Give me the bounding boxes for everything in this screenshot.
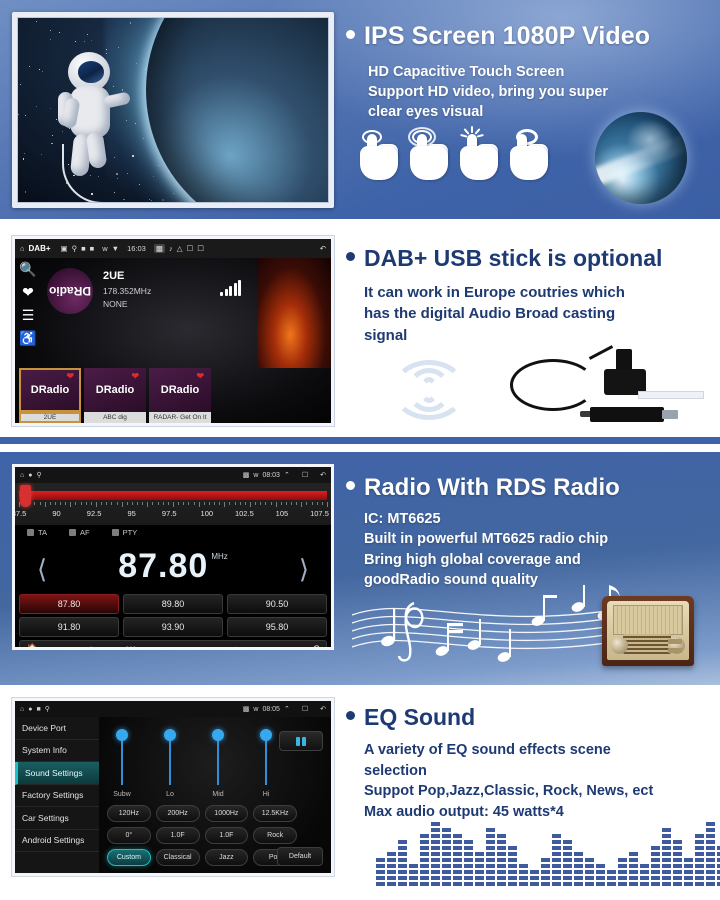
eq-cell (453, 858, 462, 862)
eq-cell (563, 840, 572, 844)
back-icon[interactable]: ↶ (312, 644, 320, 650)
eq-cell (563, 876, 572, 880)
sidebar-item-factory-settings[interactable]: Factory Settings (15, 785, 99, 808)
eq-cell (640, 882, 649, 886)
eq-cell (442, 846, 451, 850)
station-artwork: ❤DRadio (84, 368, 146, 412)
default-button[interactable]: Default (277, 847, 323, 866)
eq-cell (409, 870, 418, 874)
eq-cell (684, 882, 693, 886)
list-icon[interactable]: ☰ (22, 308, 35, 322)
chevron-up-icon[interactable]: ⌃ (284, 471, 290, 479)
rds-flag-ta[interactable]: TA (27, 528, 47, 537)
wifi-icon: ▼ (112, 244, 119, 253)
list-item[interactable]: ❤DRadioRADAR- Get On It (149, 368, 211, 423)
eq-cell (508, 870, 517, 874)
antenna-cable (510, 359, 596, 411)
radio-clock: 08:03 (262, 472, 280, 479)
section-title-ips: IPS Screen 1080P Video (346, 22, 650, 51)
preset-button[interactable]: 91.80 (19, 617, 119, 637)
eq-cell (420, 840, 429, 844)
radio-frequency-display: ⟨ 87.80 MHz ⟩ (15, 540, 331, 592)
eq-column (376, 858, 385, 886)
eq-column (651, 846, 660, 886)
eq-status-bar: ⌂ ● ■ ⚲ ▩ w 08:05 ⌃ ☐ ↶ (15, 701, 331, 717)
slider-label: Hi (251, 791, 281, 798)
eq-cell (695, 876, 704, 880)
prev-icon[interactable]: ⏮ (126, 644, 135, 650)
dab-album-art (257, 258, 331, 368)
eq-cell (629, 864, 638, 868)
eq-cell (662, 828, 671, 832)
dab-content: 🔍 ❤ ☰ ♿ DRadio 2UE 178.352MHz NONE ❤DRad… (15, 258, 331, 426)
eq-cell (662, 840, 671, 844)
eq-cell (486, 840, 495, 844)
eq-cell (453, 870, 462, 874)
home-icon[interactable]: ⌂ (20, 244, 25, 253)
eq-button[interactable]: Rock (253, 827, 297, 844)
eq-cell (695, 870, 704, 874)
eq-cell (431, 822, 440, 826)
hand-palm (460, 146, 498, 180)
dab-station-tiles: ❤DRadio2UE❤DRadioABC dig❤DRadioRADAR- Ge… (19, 368, 211, 423)
scale-label: 105 (276, 509, 289, 518)
eq-cell (563, 864, 572, 868)
sidebar-item-android-settings[interactable]: Android Settings (15, 830, 99, 853)
eq-column (541, 858, 550, 886)
preset-button[interactable]: 87.80 (19, 594, 119, 614)
preset-button[interactable]: 95.80 (227, 617, 327, 637)
eq-button[interactable]: 12.5KHz (253, 805, 297, 822)
eq-cell (519, 882, 528, 886)
eq-cell (618, 876, 627, 880)
band-button[interactable]: Europe1 (168, 645, 196, 650)
section-body-eq: A variety of EQ sound effects scene sele… (364, 740, 709, 822)
eq-cell (695, 882, 704, 886)
eq-cell (563, 852, 572, 856)
eq-cell (541, 870, 550, 874)
eq-column (585, 858, 594, 886)
scale-label: 107.5 (310, 509, 329, 518)
eq-cell (420, 870, 429, 874)
home-icon[interactable]: 🏠 (26, 644, 38, 650)
eq-column (695, 834, 704, 886)
slider-knob[interactable] (260, 729, 272, 741)
bullet-icon (346, 252, 355, 261)
eq-cell (453, 840, 462, 844)
eq-column (640, 864, 649, 886)
eq-button[interactable]: 1.0F (205, 827, 249, 844)
eq-button[interactable]: Custom (107, 849, 151, 866)
section-body-radio: IC: MT6625 Built in powerful MT6625 radi… (364, 509, 708, 590)
eq-cell (420, 864, 429, 868)
screen-icon[interactable]: ☐ (302, 705, 308, 713)
sidebar-item-device-port[interactable]: Device Port (15, 717, 99, 740)
section-radio-rds: ⌂ ● ⚲ ▩ w 08:03 ⌃ ☐ ↶ 87.59092.59597.510… (0, 452, 720, 685)
eq-cell (453, 882, 462, 886)
card-icon[interactable]: ☐ (197, 244, 204, 253)
eq-cell (442, 840, 451, 844)
eq-column (530, 870, 539, 886)
scale-label: 100 (201, 509, 214, 518)
eq-button[interactable]: 1000Hz (205, 805, 249, 822)
eq-cell (662, 852, 671, 856)
sidebar-item-system-info[interactable]: System Info (15, 740, 99, 763)
dab-status-bar: ⌂ DAB+ ▣ ⚲ ■ ■ w ▼ 16:03 ▩ ♪ △ ☐ ☐ ↶ (15, 239, 331, 258)
mute-icon[interactable]: ♪ (169, 244, 173, 253)
eq-cell (574, 870, 583, 874)
radio-tuning-scale[interactable]: 87.59092.59597.5100102.5105107.5 (15, 483, 331, 525)
camera-icon[interactable]: ▩ (243, 471, 250, 479)
eq-cell (640, 870, 649, 874)
eq-column (486, 828, 495, 886)
eq-cell (464, 858, 473, 862)
eq-cell (629, 852, 638, 856)
eq-cell (706, 864, 715, 868)
radio-bottom-bar: 🏠 Search ⏮ Europe1 ⏭ DX ↶ (19, 640, 327, 650)
eq-cell (574, 864, 583, 868)
eq-cell (376, 876, 385, 880)
tuning-marker[interactable] (20, 485, 31, 507)
gps-icon: ● (28, 706, 32, 713)
sim-icon: ■ (81, 244, 86, 253)
preset-row: 91.8093.9095.80 (19, 617, 327, 637)
back-icon[interactable]: ↶ (320, 471, 326, 479)
radio-button-2[interactable] (668, 648, 682, 653)
search-button[interactable]: Search (71, 645, 95, 650)
rds-flag-pty[interactable]: PTY (112, 528, 138, 537)
eq-cell (585, 876, 594, 880)
eq-cell (574, 858, 583, 862)
eq-cell (508, 846, 517, 850)
eq-cell (497, 858, 506, 862)
dab-radio-screenshot: ⌂ DAB+ ▣ ⚲ ■ ■ w ▼ 16:03 ▩ ♪ △ ☐ ☐ ↶ 🔍 ❤ (12, 236, 334, 426)
eq-cell (497, 864, 506, 868)
slider-label: Lo (155, 791, 185, 798)
eq-button[interactable]: Classical (156, 849, 200, 866)
next-icon[interactable]: ⏭ (228, 644, 237, 650)
eq-cell (464, 840, 473, 844)
eq-cell (706, 840, 715, 844)
eq-cell (651, 858, 660, 862)
eq-column (563, 840, 572, 886)
eq-cell (497, 870, 506, 874)
eq-button[interactable]: 0° (107, 827, 151, 844)
home-icon[interactable]: ⌂ (20, 472, 24, 479)
camera-icon[interactable]: ▩ (154, 244, 165, 253)
eq-cell (541, 876, 550, 880)
eq-cell (431, 834, 440, 838)
radio-screenshot: ⌂ ● ⚲ ▩ w 08:03 ⌃ ☐ ↶ 87.59092.59597.510… (12, 464, 334, 650)
touch-hand-icon (360, 130, 398, 180)
eq-cell (486, 870, 495, 874)
eq-cell (607, 870, 616, 874)
eq-cell (387, 864, 396, 868)
eq-cell (695, 852, 704, 856)
sidebar-item-sound-settings[interactable]: Sound Settings (15, 762, 99, 785)
heart-icon[interactable]: ❤ (22, 285, 34, 299)
eq-preset-buttons: 120Hz200Hz1000Hz12.5KHz0°1.0F1.0FRockCus… (107, 805, 297, 871)
eq-column (464, 840, 473, 886)
eq-cell (387, 858, 396, 862)
eq-cell (618, 864, 627, 868)
hand-palm (510, 146, 548, 180)
eq-cell (596, 870, 605, 874)
eq-cell (651, 864, 660, 868)
eq-cell (453, 864, 462, 868)
dab-app-label: DAB+ (29, 244, 51, 253)
eq-cell (651, 876, 660, 880)
touch-hand-press-icon (510, 130, 548, 180)
eq-cell (585, 858, 594, 862)
eq-column (596, 864, 605, 886)
eq-cell (464, 852, 473, 856)
eq-cell (673, 846, 682, 850)
back-icon[interactable]: ↶ (320, 244, 326, 253)
eq-cell (706, 834, 715, 838)
eq-cell (497, 834, 506, 838)
eq-panel: SubwLoMidHi 120Hz200Hz1000Hz12.5KHz0°1.0… (99, 717, 331, 876)
eq-cell (387, 870, 396, 874)
section-title-eq: EQ Sound (346, 704, 475, 731)
heart-icon[interactable]: ❤ (66, 371, 74, 382)
eq-cell (508, 876, 517, 880)
heart-icon[interactable]: ❤ (196, 371, 204, 382)
eq-cell (651, 870, 660, 874)
next-station-button[interactable]: ⟩ (299, 554, 309, 585)
section-eq-sound: ⌂ ● ■ ⚲ ▩ w 08:05 ⌃ ☐ ↶ Device PortSyste… (0, 692, 720, 900)
slider-label: Mid (203, 791, 233, 798)
eq-cell (376, 870, 385, 874)
dab-usb-antenna-kit (500, 347, 700, 435)
eq-column (706, 822, 715, 886)
radio-button-1[interactable] (668, 639, 682, 644)
eq-button[interactable]: 1.0F (156, 827, 200, 844)
scale-label: 90 (52, 509, 60, 518)
eq-cell (475, 876, 484, 880)
eq-clock: 08:05 (262, 706, 280, 713)
touch-hand-tap-icon (460, 130, 498, 180)
eq-cell (618, 882, 627, 886)
eq-cell (585, 882, 594, 886)
eq-cell (442, 882, 451, 886)
slider-label: Subw (107, 791, 137, 798)
eq-cell (706, 876, 715, 880)
screen-icon[interactable]: ☐ (302, 471, 308, 479)
bullet-icon (346, 481, 355, 490)
scale-label: 87.5 (12, 509, 26, 518)
section-dab-usb: ⌂ DAB+ ▣ ⚲ ■ ■ w ▼ 16:03 ▩ ♪ △ ☐ ☐ ↶ 🔍 ❤ (0, 231, 720, 444)
eq-cell (673, 864, 682, 868)
eq-cell (552, 840, 561, 844)
eq-cell (420, 876, 429, 880)
eq-cell (497, 852, 506, 856)
eq-cell (442, 858, 451, 862)
usb-icon: ⚲ (45, 705, 50, 713)
eq-cell (662, 864, 671, 868)
back-icon[interactable]: ↶ (320, 705, 326, 713)
eq-cell (552, 846, 561, 850)
eq-cell (453, 852, 462, 856)
eq-cell (706, 870, 715, 874)
eq-cell (376, 858, 385, 862)
eq-cell (431, 852, 440, 856)
search-icon[interactable]: 🔍 (19, 262, 36, 276)
eq-cell (442, 834, 451, 838)
station-artwork: ❤DRadio (149, 368, 211, 412)
eq-cell (453, 876, 462, 880)
radio-speaker-grille (623, 634, 671, 654)
rds-flag-af[interactable]: AF (69, 528, 90, 537)
eq-cell (519, 864, 528, 868)
eq-cell (662, 846, 671, 850)
hand-palm (360, 146, 398, 180)
frequency-unit: MHz (211, 552, 227, 561)
eq-cell (376, 882, 385, 886)
eq-cell (651, 882, 660, 886)
eq-cell (420, 834, 429, 838)
eq-cell (431, 846, 440, 850)
eq-cell (409, 864, 418, 868)
radio-status-bar: ⌂ ● ⚲ ▩ w 08:03 ⌃ ☐ ↶ (15, 467, 331, 483)
dab-station-name: 2UE (103, 270, 151, 282)
equalizer-bars-graphic (376, 814, 698, 886)
eq-cell (629, 858, 638, 862)
preset-button[interactable]: 93.90 (123, 617, 223, 637)
eq-cell (486, 852, 495, 856)
scale-label: 95 (128, 509, 136, 518)
eq-cell (431, 882, 440, 886)
tuning-scale-labels: 87.59092.59597.5100102.5105107.5 (19, 509, 327, 521)
section-title-dab: DAB+ USB stick is optional (346, 245, 662, 272)
eq-cell (607, 882, 616, 886)
eq-button[interactable]: 120Hz (107, 805, 151, 822)
eq-cell (464, 864, 473, 868)
bluetooth-icon: w (253, 706, 258, 713)
eq-cell (398, 864, 407, 868)
eq-cell (552, 870, 561, 874)
eq-cell (486, 828, 495, 832)
eq-cell (497, 846, 506, 850)
eject-icon[interactable]: △ (177, 244, 183, 253)
eq-button-row: 120Hz200Hz1000Hz12.5KHz (107, 805, 297, 822)
radio-knob-left[interactable] (611, 637, 628, 654)
eq-cell (596, 876, 605, 880)
eq-cell (431, 840, 440, 844)
eq-cell (695, 858, 704, 862)
space-image (17, 17, 329, 203)
eq-cell (508, 858, 517, 862)
eq-cell (387, 852, 396, 856)
section-divider (0, 437, 720, 444)
eq-cell (596, 864, 605, 868)
eq-column (673, 840, 682, 886)
eq-cell (552, 834, 561, 838)
sidebar-item-car-settings[interactable]: Car Settings (15, 807, 99, 830)
station-caption: ABC dig (84, 412, 146, 423)
camera-icon[interactable]: ▩ (243, 705, 250, 713)
eq-cell (651, 852, 660, 856)
eq-cell (508, 864, 517, 868)
list-item[interactable]: ❤DRadio2UE (19, 368, 81, 423)
rds-flag-row: TAAFPTY (15, 525, 331, 540)
eq-cell (662, 870, 671, 874)
eq-cell (673, 876, 682, 880)
slider-knob[interactable] (164, 729, 176, 741)
title-text: IPS Screen 1080P Video (364, 22, 650, 50)
astronaut-visor (78, 61, 104, 83)
eq-settings-menu: Device PortSystem InfoSound SettingsFact… (15, 717, 99, 876)
eq-cell (475, 852, 484, 856)
eq-cell (530, 876, 539, 880)
chevron-up-icon[interactable]: ⌃ (284, 705, 290, 713)
usb-icon: ⚲ (72, 244, 78, 253)
title-text: DAB+ USB stick is optional (364, 245, 662, 271)
eq-cell (618, 858, 627, 862)
preset-button[interactable]: 89.80 (123, 594, 223, 614)
screen-icon[interactable]: ☐ (186, 244, 193, 253)
eq-cell (431, 858, 440, 862)
eq-cell (486, 834, 495, 838)
eq-cell (684, 876, 693, 880)
eq-cell (706, 858, 715, 862)
eq-cell (420, 846, 429, 850)
eq-button[interactable]: 200Hz (156, 805, 200, 822)
eq-cell (541, 858, 550, 862)
station-caption: 2UE (19, 412, 81, 423)
bluetooth-icon: w (102, 244, 107, 253)
scale-label: 97.5 (162, 509, 177, 518)
dab-clock: 16:03 (127, 244, 146, 253)
prev-station-button[interactable]: ⟨ (37, 554, 47, 585)
dx-button[interactable]: DX (269, 645, 279, 650)
eq-cell (431, 864, 440, 868)
bullet-icon (346, 30, 355, 39)
eq-cell (475, 858, 484, 862)
balance-icon[interactable] (279, 731, 323, 751)
eq-cell (552, 858, 561, 862)
current-frequency: 87.80 (118, 547, 208, 586)
eq-cell (464, 882, 473, 886)
home-icon[interactable]: ⌂ (20, 706, 24, 713)
signal-strength-icon (220, 280, 241, 296)
touch-gesture-icons (360, 130, 548, 180)
eq-column (420, 834, 429, 886)
eq-cell (420, 882, 429, 886)
eq-cell (431, 870, 440, 874)
preset-button[interactable]: 90.50 (227, 594, 327, 614)
eq-cell (431, 828, 440, 832)
dab-frequency: 178.352MHz (103, 286, 151, 296)
scale-label: 92.5 (87, 509, 102, 518)
eq-cell (530, 882, 539, 886)
eq-cell (673, 840, 682, 844)
eq-column (662, 828, 671, 886)
bullet-icon (346, 711, 355, 720)
antenna-icon[interactable]: ♿ (19, 331, 36, 345)
slider-knob[interactable] (212, 729, 224, 741)
eq-settings-screenshot: ⌂ ● ■ ⚲ ▩ w 08:05 ⌃ ☐ ↶ Device PortSyste… (12, 698, 334, 876)
slider-knob[interactable] (116, 729, 128, 741)
eq-cell (673, 858, 682, 862)
eq-button-row: 0°1.0F1.0FRock (107, 827, 297, 844)
eq-cell (662, 876, 671, 880)
heart-icon[interactable]: ❤ (131, 371, 139, 382)
sim-icon: ■ (90, 244, 95, 253)
list-item[interactable]: ❤DRadioABC dig (84, 368, 146, 423)
eq-button[interactable]: Jazz (205, 849, 249, 866)
dab-info: NONE (103, 299, 151, 309)
